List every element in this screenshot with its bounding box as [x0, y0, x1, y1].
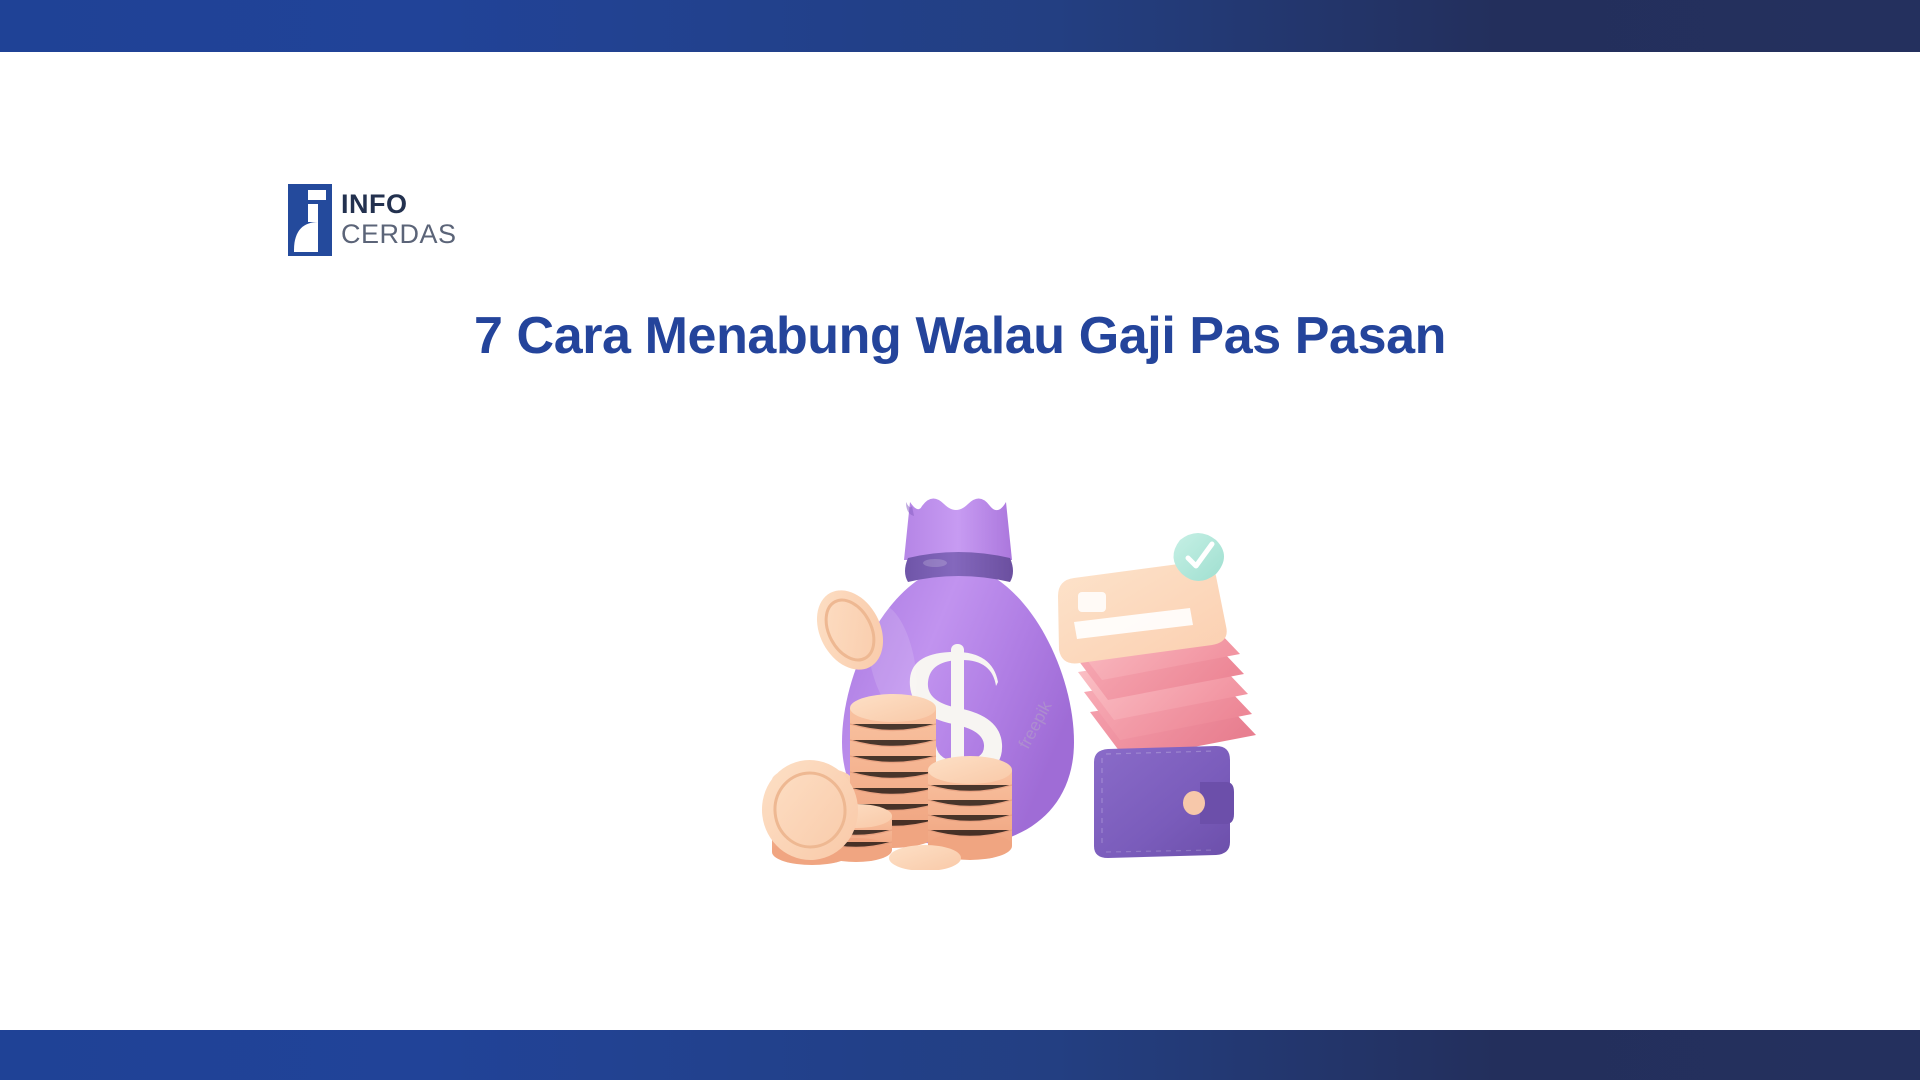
brand-logo: INFO CERDAS [288, 184, 457, 256]
logo-wordmark: INFO CERDAS [341, 184, 457, 248]
page-title: 7 Cara Menabung Walau Gaji Pas Pasan [0, 306, 1920, 366]
wallet-button [1183, 791, 1205, 815]
money-savings-illustration: freepik [660, 480, 1280, 870]
logo-word-cerdas: CERDAS [341, 221, 457, 248]
coin-stack [928, 756, 1012, 860]
logo-word-info: INFO [341, 191, 457, 218]
slide-canvas: INFO CERDAS 7 Cara Menabung Walau Gaji P… [0, 0, 1920, 1080]
bottom-accent-band [0, 1030, 1920, 1080]
card-chip-icon [1078, 592, 1106, 612]
top-accent-band [0, 0, 1920, 52]
coin-flat [889, 845, 961, 870]
info-cerdas-mark-icon [288, 184, 332, 256]
card-stack [1058, 533, 1256, 760]
wallet [1094, 746, 1234, 858]
